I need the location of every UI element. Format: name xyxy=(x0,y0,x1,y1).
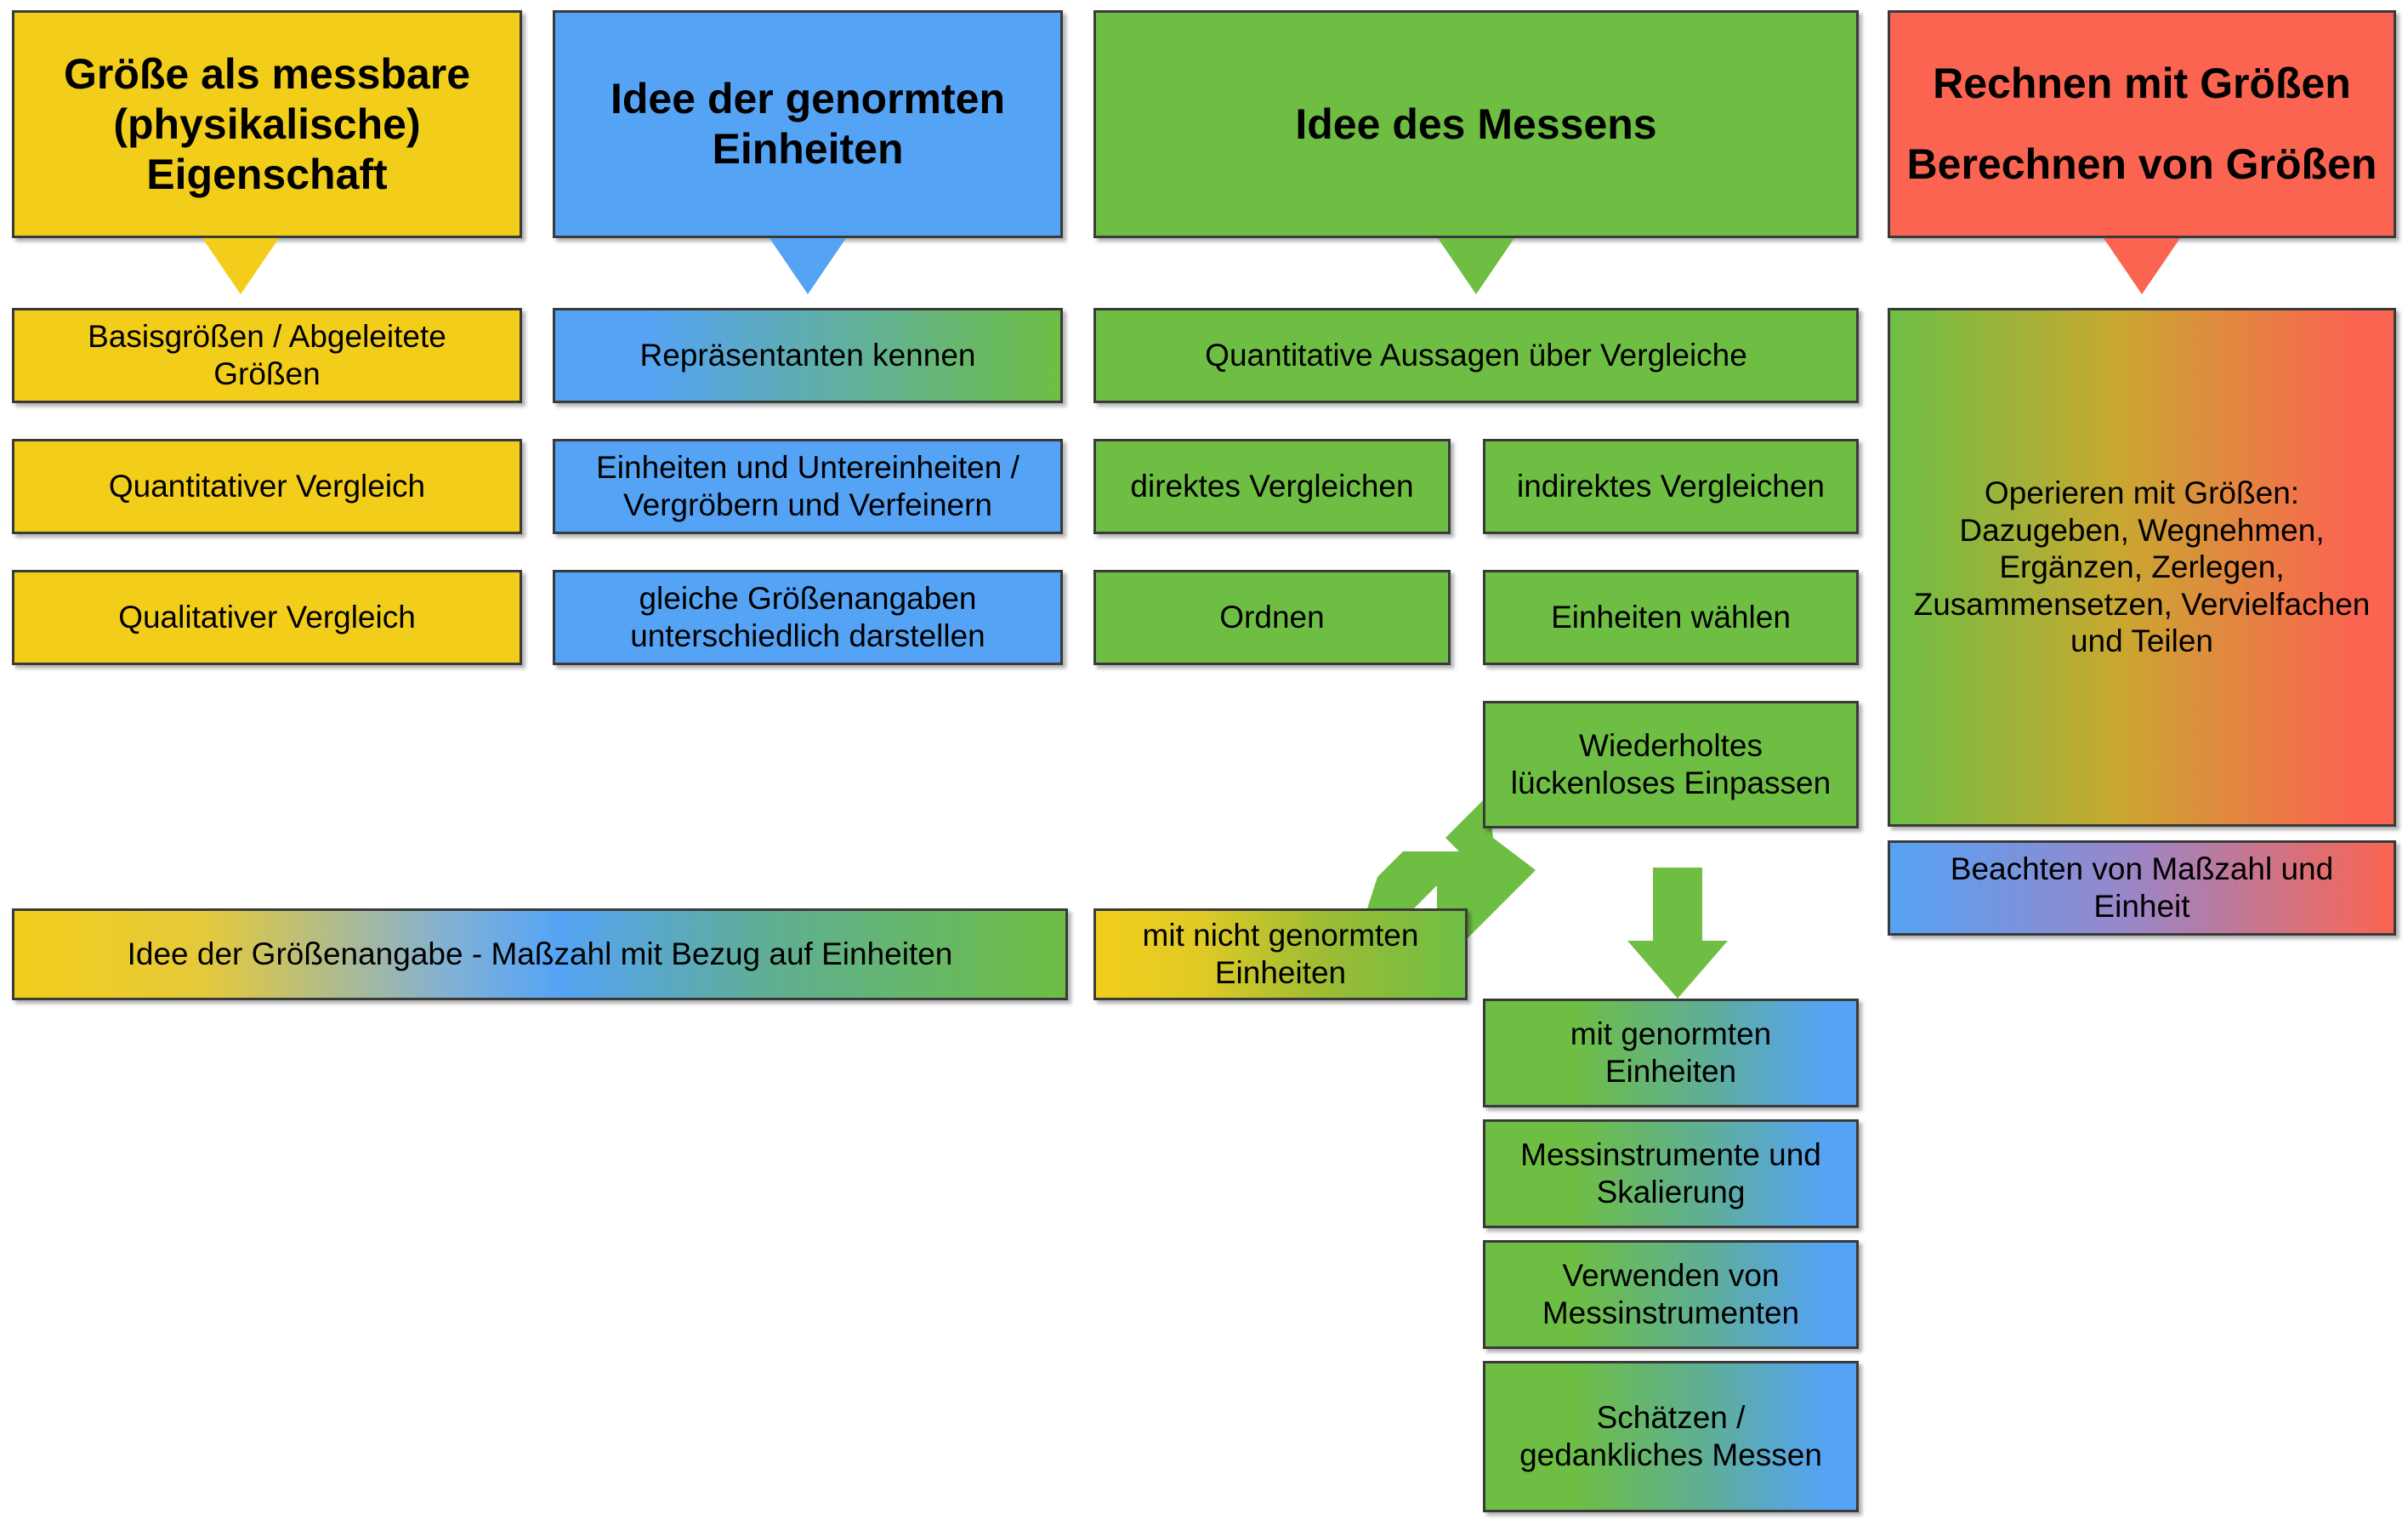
header-idee-der-genormten-einheiten[interactable]: Idee der genormten Einheiten xyxy=(553,10,1063,238)
node-einheiten-waehlen-label: Einheiten wählen xyxy=(1497,599,1844,636)
header-genormte-einheiten-label: Idee der genormten Einheiten xyxy=(567,74,1048,174)
node-mit-nicht-genormten-einheiten[interactable]: mit nicht genormten Einheiten xyxy=(1093,908,1468,1000)
header-idee-des-messens[interactable]: Idee des Messens xyxy=(1093,10,1859,238)
arrow-header-blue-down xyxy=(770,238,846,294)
node-idee-der-groessenangabe[interactable]: Idee der Größenangabe - Maßzahl mit Bezu… xyxy=(12,908,1068,1000)
node-repraesentanten-kennen[interactable]: Repräsentanten kennen xyxy=(553,308,1063,403)
header-rechnen-mit-groessen[interactable]: Rechnen mit Größen Berechnen von Größen xyxy=(1888,10,2396,238)
node-qualitativer-vergleich-label: Qualitativer Vergleich xyxy=(26,599,508,636)
node-operieren-mit-groessen[interactable]: Operieren mit Größen: Dazugeben, Wegnehm… xyxy=(1888,308,2396,827)
arrow-header-red-down xyxy=(2104,238,2180,294)
node-qualitativer-vergleich[interactable]: Qualitativer Vergleich xyxy=(12,570,522,665)
node-beachten-masszahl-einheit-label: Beachten von Maßzahl und Einheit xyxy=(1902,851,2382,925)
node-verwenden-messinstrumenten-label: Verwenden von Messinstrumenten xyxy=(1497,1257,1844,1331)
node-repraesentanten-kennen-label: Repräsentanten kennen xyxy=(567,337,1048,374)
node-wiederholtes-lueckenloses-einpassen[interactable]: Wiederholtes lückenloses Einpassen xyxy=(1483,701,1859,828)
node-mit-genormten-einheiten[interactable]: mit genormten Einheiten xyxy=(1483,999,1859,1107)
node-gleiche-groessenangaben[interactable]: gleiche Größenangaben unterschiedlich da… xyxy=(553,570,1063,665)
header-berechnen-von-groessen-label: Berechnen von Größen xyxy=(1902,139,2382,190)
node-indirektes-vergleichen[interactable]: indirektes Vergleichen xyxy=(1483,439,1859,534)
arrow-einpassen-to-genormt-down xyxy=(1627,868,1728,999)
arrow-header-green-down xyxy=(1438,238,1514,294)
header-idee-des-messens-label: Idee des Messens xyxy=(1108,100,1844,150)
node-messinstrumente-skalierung-label: Messinstrumente und Skalierung xyxy=(1497,1136,1844,1210)
node-basisgroessen-abgeleitete-groessen[interactable]: Basisgrößen / Abgeleitete Größen xyxy=(12,308,522,403)
header-groesse-label: Größe als messbare (physikalische) Eigen… xyxy=(26,49,508,200)
node-einheiten-waehlen[interactable]: Einheiten wählen xyxy=(1483,570,1859,665)
node-quantitative-aussagen-ueber-vergleiche[interactable]: Quantitative Aussagen über Vergleiche xyxy=(1093,308,1859,403)
node-operieren-mit-groessen-label: Operieren mit Größen: Dazugeben, Wegnehm… xyxy=(1902,475,2382,660)
node-beachten-von-masszahl-und-einheit[interactable]: Beachten von Maßzahl und Einheit xyxy=(1888,840,2396,936)
diagram-canvas: Größe als messbare (physikalische) Eigen… xyxy=(0,0,2408,1531)
node-quantitativer-vergleich[interactable]: Quantitativer Vergleich xyxy=(12,439,522,534)
node-mit-genormten-einheiten-label: mit genormten Einheiten xyxy=(1497,1016,1844,1090)
node-mit-nicht-genormten-einheiten-label: mit nicht genormten Einheiten xyxy=(1108,917,1453,991)
header-rechnen-mit-groessen-label: Rechnen mit Größen xyxy=(1902,59,2382,109)
node-gleiche-groessenangaben-label: gleiche Größenangaben unterschiedlich da… xyxy=(567,580,1048,654)
node-idee-groessenangabe-label: Idee der Größenangabe - Maßzahl mit Bezu… xyxy=(26,936,1053,973)
arrow-header-yellow-down xyxy=(202,238,279,294)
node-einheiten-und-untereinheiten[interactable]: Einheiten und Untereinheiten / Vergröber… xyxy=(553,439,1063,534)
node-schaetzen-gedankliches-messen[interactable]: Schätzen / gedankliches Messen xyxy=(1483,1361,1859,1512)
node-wiederholtes-einpassen-label: Wiederholtes lückenloses Einpassen xyxy=(1497,727,1844,801)
node-quantitative-aussagen-label: Quantitative Aussagen über Vergleiche xyxy=(1108,337,1844,374)
node-messinstrumente-und-skalierung[interactable]: Messinstrumente und Skalierung xyxy=(1483,1119,1859,1228)
node-schaetzen-gedankliches-messen-label: Schätzen / gedankliches Messen xyxy=(1497,1399,1844,1473)
node-quantitativer-vergleich-label: Quantitativer Vergleich xyxy=(26,468,508,505)
node-indirektes-vergleichen-label: indirektes Vergleichen xyxy=(1497,468,1844,505)
node-ordnen[interactable]: Ordnen xyxy=(1093,570,1451,665)
header-groesse-als-messbare-eigenschaft[interactable]: Größe als messbare (physikalische) Eigen… xyxy=(12,10,522,238)
node-direktes-vergleichen-label: direktes Vergleichen xyxy=(1108,468,1436,505)
node-verwenden-von-messinstrumenten[interactable]: Verwenden von Messinstrumenten xyxy=(1483,1240,1859,1349)
node-basisgroessen-label: Basisgrößen / Abgeleitete Größen xyxy=(26,318,508,392)
node-einheiten-untereinheiten-label: Einheiten und Untereinheiten / Vergröber… xyxy=(567,449,1048,523)
node-direktes-vergleichen[interactable]: direktes Vergleichen xyxy=(1093,439,1451,534)
node-ordnen-label: Ordnen xyxy=(1108,599,1436,636)
